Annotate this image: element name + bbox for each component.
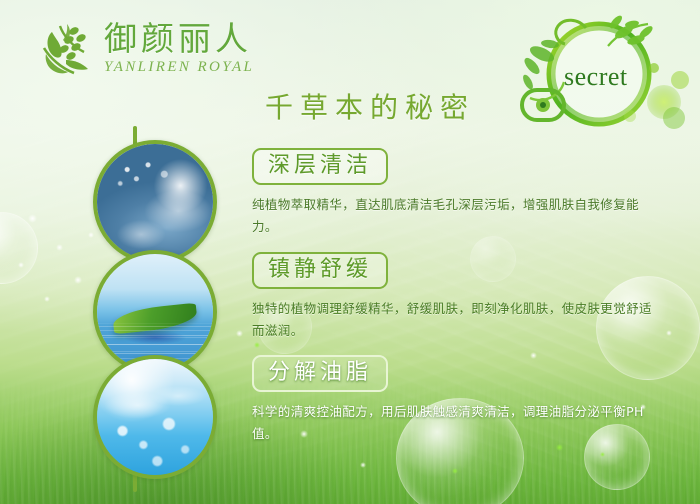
green-dot-decor (600, 452, 605, 457)
green-dot-decor (452, 468, 458, 474)
leaf-on-water-photo (97, 254, 213, 370)
sparkle-decor (18, 262, 24, 268)
brand-name-en: YANLIREN ROYAL (104, 59, 254, 76)
brand-name-cn: 御颜丽人 (104, 22, 254, 57)
feature-body: 独特的植物调理舒缓精华，舒缓肌肤，即刻净化肌肤，使皮肤更觉舒适而滋润。 (252, 298, 664, 342)
sparkle-decor (74, 276, 82, 284)
feature-label: 分解油脂 (252, 355, 388, 392)
bubble-decor (0, 212, 38, 284)
promo-banner: 御颜丽人 YANLIREN ROYAL (0, 0, 700, 504)
brand-wordmark: 御颜丽人 YANLIREN ROYAL (104, 18, 254, 76)
green-dot-decor (556, 444, 563, 451)
feature-label: 镇静舒缓 (252, 252, 388, 289)
feature-photo-oil-breakdown (93, 355, 217, 479)
sparkle-decor (88, 232, 94, 238)
leaf-branch-icon (36, 18, 98, 76)
page-title: 千草本的秘密 (0, 86, 700, 126)
sparkle-decor (236, 330, 243, 337)
feature-block-calming-soothing: 镇静舒缓 独特的植物调理舒缓精华，舒缓肌肤，即刻净化肌肤，使皮肤更觉舒适而滋润。 (252, 252, 672, 342)
feature-body: 科学的清爽控油配方，用后肌肤触感清爽清洁，调理油脂分泌平衡PH值。 (252, 401, 664, 445)
feature-photo-deep-cleansing (93, 140, 217, 264)
feature-label: 深层清洁 (252, 148, 388, 185)
feature-block-deep-cleansing: 深层清洁 纯植物萃取精华，直达肌底清洁毛孔深层污垢，增强肌肤自我修复能力。 (252, 148, 672, 238)
sparkle-decor (56, 244, 63, 251)
brand-logo[interactable]: 御颜丽人 YANLIREN ROYAL (36, 18, 254, 76)
blue-bubbling-water-photo (97, 359, 213, 475)
sparkle-decor (28, 214, 37, 223)
water-splash-photo (97, 144, 213, 260)
feature-block-oil-breakdown: 分解油脂 科学的清爽控油配方，用后肌肤触感清爽清洁，调理油脂分泌平衡PH值。 (252, 355, 672, 445)
sparkle-decor (44, 296, 50, 302)
feature-body: 纯植物萃取精华，直达肌底清洁毛孔深层污垢，增强肌肤自我修复能力。 (252, 194, 664, 238)
sparkle-decor (360, 462, 366, 468)
green-dot-decor (254, 342, 260, 348)
